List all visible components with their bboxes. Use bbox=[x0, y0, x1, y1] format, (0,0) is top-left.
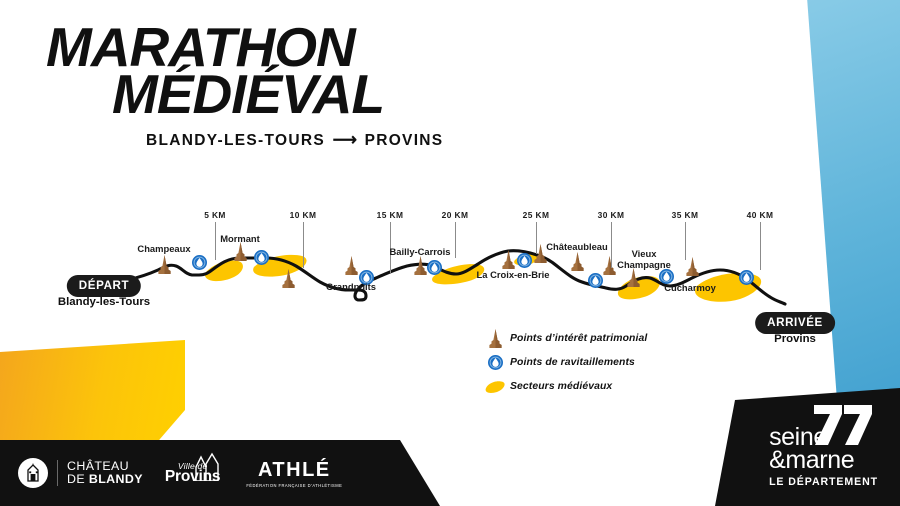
km-label: 10 KM bbox=[290, 210, 317, 220]
km-tick bbox=[685, 222, 686, 260]
monument-tower-icon bbox=[480, 329, 510, 348]
arrow-right-icon: ⟶ bbox=[331, 130, 359, 149]
monument-tower-icon bbox=[234, 242, 246, 261]
km-tick bbox=[215, 222, 216, 260]
town-label: La Croix-en-Brie bbox=[477, 270, 550, 281]
legend-label-heritage: Points d’intérêt patrimonial bbox=[510, 333, 647, 344]
title-block: MARATHON MÉDIÉVAL BLANDY-LES-TOURS ⟶ PRO… bbox=[46, 24, 443, 150]
water-drop-icon bbox=[192, 255, 207, 270]
town-label: Châteaubleau bbox=[546, 242, 607, 253]
town-label: Bailly-Carrois bbox=[390, 247, 451, 258]
course-profile: 5 KM10 KM15 KM20 KM25 KM30 KM35 KM40 KM … bbox=[0, 196, 900, 356]
finish-city-label: Provins bbox=[774, 333, 816, 345]
start-city-label: Blandy-les-Tours bbox=[58, 296, 150, 308]
sponsor-blandy-de: DE bbox=[67, 472, 89, 486]
department-logo[interactable]: seine &marne LE DÉPARTEMENT bbox=[769, 426, 878, 488]
legend-item-heritage: Points d’intérêt patrimonial bbox=[480, 326, 647, 350]
sponsor-athle[interactable]: ATHLÉ FÉDÉRATION FRANÇAISE D’ATHLÉTISME bbox=[246, 459, 342, 488]
water-drop-icon bbox=[739, 270, 754, 285]
water-drop-icon bbox=[427, 260, 442, 275]
page-title-line-2: MÉDIÉVAL bbox=[112, 71, 443, 118]
town-label: Mormant bbox=[220, 234, 260, 245]
town-label: Cucharmoy bbox=[664, 283, 716, 294]
town-label: Champeaux bbox=[137, 244, 190, 255]
km-label: 30 KM bbox=[598, 210, 625, 220]
km-tick bbox=[303, 222, 304, 268]
subtitle: BLANDY-LES-TOURS ⟶ PROVINS bbox=[146, 130, 443, 150]
km-label: 15 KM bbox=[377, 210, 404, 220]
water-drop-icon bbox=[588, 273, 603, 288]
sponsor-blandy-line-2: DE BLANDY bbox=[67, 473, 143, 486]
finish-badge: ARRIVÉE bbox=[755, 312, 835, 334]
sponsor-blandy-blandy: BLANDY bbox=[89, 472, 143, 486]
subtitle-destination: PROVINS bbox=[365, 132, 444, 149]
poster-root: MARATHON MÉDIÉVAL BLANDY-LES-TOURS ⟶ PRO… bbox=[0, 0, 900, 506]
subtitle-origin: BLANDY-LES-TOURS bbox=[146, 132, 325, 149]
water-drop-icon bbox=[254, 250, 269, 265]
km-label: 35 KM bbox=[672, 210, 699, 220]
legend-item-refuel: Points de ravitaillements bbox=[480, 350, 647, 374]
km-label: 5 KM bbox=[204, 210, 226, 220]
monument-tower-icon bbox=[603, 256, 615, 275]
provins-towers-icon bbox=[190, 451, 224, 486]
town-label: Grandpuits bbox=[326, 282, 376, 293]
department-line-3: LE DÉPARTEMENT bbox=[769, 476, 878, 488]
sponsor-chateau-de-blandy[interactable]: CHÂTEAU DE BLANDY bbox=[18, 458, 143, 488]
water-drop-icon bbox=[480, 355, 510, 370]
legend-label-medieval: Secteurs médiévaux bbox=[510, 381, 612, 392]
km-tick bbox=[455, 222, 456, 258]
legend: Points d’intérêt patrimonial Points de r… bbox=[480, 326, 647, 398]
monument-tower-icon bbox=[686, 257, 698, 276]
monument-tower-icon bbox=[571, 252, 583, 271]
water-drop-icon bbox=[517, 253, 532, 268]
divider bbox=[57, 460, 58, 486]
sponsor-bar: CHÂTEAU DE BLANDY Ville de Provins ATHLÉ… bbox=[0, 440, 440, 506]
legend-item-medieval: Secteurs médiévaux bbox=[480, 374, 647, 398]
km-label: 40 KM bbox=[747, 210, 774, 220]
km-tick bbox=[760, 222, 761, 270]
medieval-sector-icon bbox=[480, 380, 510, 393]
km-label: 20 KM bbox=[442, 210, 469, 220]
department-line-2: &marne bbox=[769, 449, 878, 472]
km-label: 25 KM bbox=[523, 210, 550, 220]
castle-icon bbox=[18, 458, 48, 488]
town-label: VieuxChampagne bbox=[617, 249, 671, 270]
legend-label-refuel: Points de ravitaillements bbox=[510, 357, 635, 368]
start-badge: DÉPART bbox=[67, 275, 141, 297]
km-tick bbox=[536, 222, 537, 254]
monument-tower-icon bbox=[345, 256, 357, 275]
sponsor-athle-subline: FÉDÉRATION FRANÇAISE D’ATHLÉTISME bbox=[246, 483, 342, 488]
sponsor-ville-de-provins[interactable]: Ville de Provins bbox=[165, 461, 220, 486]
sponsor-athle-wordmark: ATHLÉ bbox=[246, 459, 342, 482]
km-tick bbox=[611, 222, 612, 268]
